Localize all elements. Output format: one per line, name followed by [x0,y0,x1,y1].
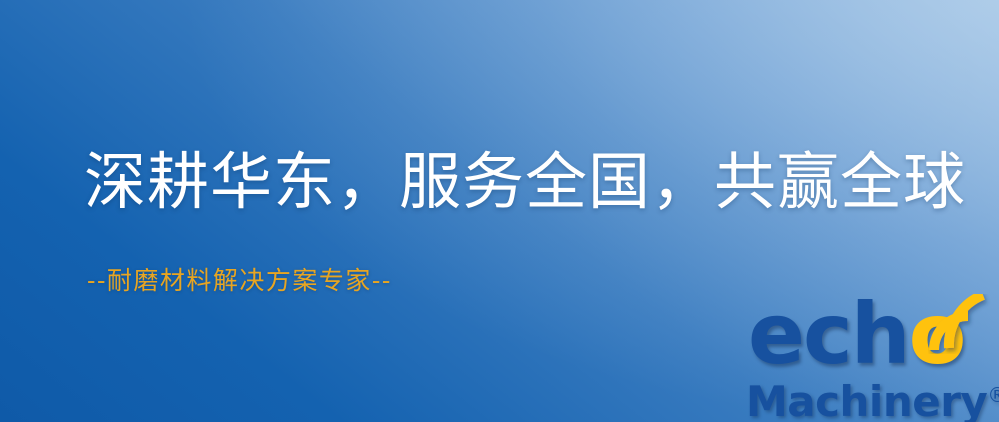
banner-subtitle: --耐磨材料解决方案专家-- [87,268,392,293]
banner-headline: 深耕华东，服务全国，共赢全球 [84,151,966,213]
hero-banner: 深耕华东，服务全国，共赢全球 --耐磨材料解决方案专家-- echo Machi… [0,0,999,422]
registered-trademark-icon: ® [987,383,999,407]
logo-wordmark-prefix: ech [748,285,909,383]
echo-machinery-logo[interactable]: echo Machinery® [742,292,999,422]
logo-subtext-label: Machinery [746,377,987,422]
signal-arcs-icon [928,294,992,354]
logo-subtext: Machinery® [746,374,999,422]
